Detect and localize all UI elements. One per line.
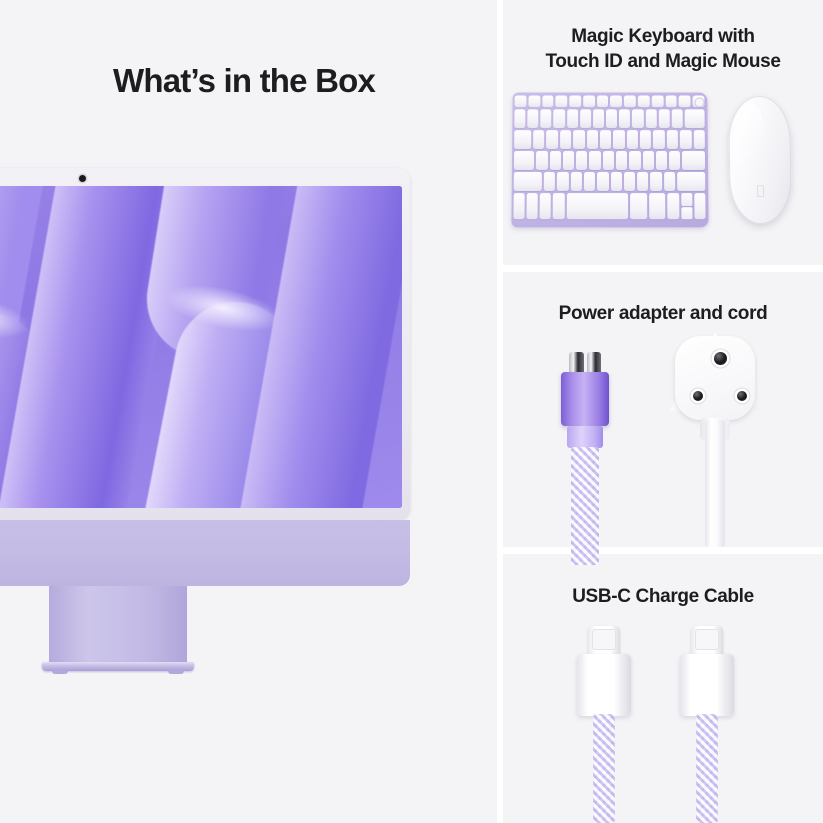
key-tab	[514, 130, 531, 149]
imac-product-image	[0, 168, 410, 668]
key-bracket-right	[680, 130, 691, 149]
key-h	[603, 151, 614, 170]
horizontal-divider-2	[503, 547, 823, 554]
usb-c-cable-art	[503, 626, 823, 823]
key-f3	[556, 96, 568, 108]
imac-display	[0, 186, 402, 508]
usb-c-connector-left	[571, 626, 637, 823]
key-shift-left	[514, 172, 542, 191]
usb-c-cable-braid	[593, 714, 615, 823]
connector-barrel	[561, 372, 609, 426]
plug-stem	[705, 420, 725, 547]
key-backslash	[693, 130, 705, 149]
wall-plug-head	[669, 332, 761, 424]
key-quote	[669, 151, 680, 170]
key-f9	[638, 96, 650, 108]
magic-mouse-image: 	[728, 95, 792, 224]
key-m	[624, 172, 635, 191]
key-return	[682, 151, 705, 170]
plug-pin-left-icon	[693, 391, 703, 401]
cell-power-adapter: Power adapter and cord	[503, 272, 823, 547]
key-arrow-up	[681, 193, 692, 206]
page-title: What’s in the Box	[113, 62, 375, 100]
usb-c-cable-braid	[696, 714, 718, 823]
cell-keyboard-mouse-title-line1: Magic Keyboard with	[503, 24, 823, 49]
key-9	[632, 109, 643, 128]
key-v	[584, 172, 595, 191]
key-row-qwerty	[514, 130, 705, 149]
imac-chin	[0, 520, 410, 586]
cell-usb-c-cable: USB-C Charge Cable	[503, 554, 823, 823]
cell-keyboard-mouse-title-line2: Touch ID and Magic Mouse	[503, 49, 823, 74]
key-f11	[665, 96, 677, 108]
left-panel: What’s in the Box	[0, 0, 497, 823]
camera-icon	[79, 175, 86, 182]
connector-pin	[569, 352, 584, 374]
key-y	[600, 130, 611, 149]
key-minus	[658, 109, 669, 128]
key-fn	[513, 193, 524, 219]
key-bracket-left	[667, 130, 678, 149]
keyboard-keys	[513, 96, 705, 224]
key-arrow-down	[681, 207, 692, 220]
key-4	[567, 109, 578, 128]
key-o	[640, 130, 651, 149]
key-delete	[685, 109, 705, 128]
key-7	[606, 109, 617, 128]
key-z	[544, 172, 555, 191]
cell-keyboard-mouse: Magic Keyboard with Touch ID and Magic M…	[503, 0, 823, 265]
key-arrow-up-down	[681, 193, 692, 219]
key-q	[533, 130, 544, 149]
key-l	[643, 151, 654, 170]
key-t	[587, 130, 598, 149]
imac-stand-foot	[42, 662, 194, 671]
key-e	[560, 130, 571, 149]
plug-face	[675, 336, 755, 420]
key-p	[653, 130, 664, 149]
key-f2	[542, 96, 554, 108]
touch-id-key	[693, 96, 705, 108]
key-i	[627, 130, 638, 149]
key-row-bottom-letters	[514, 172, 706, 191]
key-option-left	[540, 193, 551, 219]
key-f10	[652, 96, 664, 108]
key-w	[547, 130, 558, 149]
key-slash	[664, 172, 675, 191]
key-f6	[597, 96, 609, 108]
key-arrow-right	[694, 193, 705, 219]
connector-collar	[567, 426, 603, 448]
key-command-right	[630, 193, 647, 219]
apple-logo-icon: 	[757, 184, 765, 197]
cell-usb-c-cable-title: USB-C Charge Cable	[503, 554, 823, 609]
key-f1	[528, 96, 540, 108]
connector-pin	[587, 352, 602, 374]
key-f7	[610, 96, 622, 108]
key-k	[629, 151, 640, 170]
key-comma	[637, 172, 648, 191]
usb-c-connector-right	[674, 626, 740, 823]
whats-in-the-box-page: What’s in the Box	[0, 0, 823, 823]
imac-stand-neck	[49, 586, 187, 666]
plug-pin-right-icon	[737, 391, 747, 401]
usb-c-housing	[680, 654, 734, 716]
key-n	[611, 172, 622, 191]
key-a	[536, 151, 547, 170]
power-cord-braid	[571, 447, 599, 565]
key-control	[527, 193, 538, 219]
key-6	[593, 109, 604, 128]
key-space	[566, 193, 628, 219]
key-x	[557, 172, 568, 191]
key-option-right	[649, 193, 666, 219]
key-row-home	[514, 151, 705, 170]
horizontal-divider-1	[503, 265, 823, 272]
key-equal	[672, 109, 683, 128]
cell-power-adapter-title: Power adapter and cord	[503, 272, 823, 326]
key-b	[597, 172, 608, 191]
connector-pins-icon	[569, 352, 601, 374]
usb-c-tip-icon	[588, 626, 620, 656]
key-0	[645, 109, 656, 128]
key-f12	[679, 96, 691, 108]
key-8	[619, 109, 630, 128]
usb-c-housing	[577, 654, 631, 716]
key-2	[541, 109, 552, 128]
key-d	[563, 151, 574, 170]
key-row-modifiers	[513, 193, 705, 219]
key-3	[554, 109, 565, 128]
key-semicolon	[656, 151, 667, 170]
key-f5	[583, 96, 595, 108]
plug-pin-top-icon	[714, 352, 727, 365]
key-row-numbers	[514, 109, 704, 128]
key-grave	[514, 109, 525, 128]
imac-enclosure	[0, 168, 410, 520]
cell-keyboard-mouse-title: Magic Keyboard with Touch ID and Magic M…	[503, 0, 823, 74]
key-arrow-left	[668, 193, 679, 219]
key-f8	[624, 96, 636, 108]
key-row-function	[515, 96, 705, 108]
key-g	[589, 151, 600, 170]
keyboard-mouse-art: 	[503, 88, 823, 248]
desktop-wallpaper	[0, 186, 402, 508]
key-c	[571, 172, 582, 191]
key-r	[573, 130, 584, 149]
key-caps-lock	[514, 151, 534, 170]
key-shift-right	[677, 172, 705, 191]
key-j	[616, 151, 627, 170]
key-1	[527, 109, 538, 128]
key-u	[613, 130, 624, 149]
key-f	[576, 151, 587, 170]
key-esc	[515, 96, 527, 108]
key-5	[580, 109, 591, 128]
key-command-left	[553, 193, 564, 219]
usb-c-tip-icon	[691, 626, 723, 656]
key-period	[650, 172, 661, 191]
magic-keyboard-image	[511, 93, 708, 228]
key-f4	[569, 96, 581, 108]
key-s	[550, 151, 561, 170]
power-adapter-art	[503, 334, 823, 547]
magnetic-power-connector	[557, 352, 613, 547]
